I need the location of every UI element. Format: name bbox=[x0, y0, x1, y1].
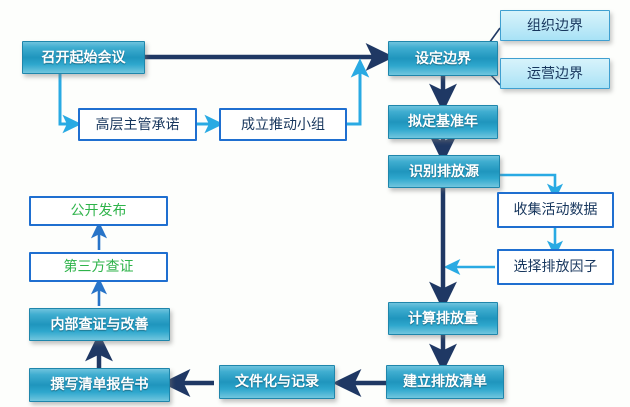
node-label: 选择排放因子 bbox=[514, 260, 598, 274]
node-third-party-verification[interactable]: 第三方查证 bbox=[29, 252, 168, 282]
node-set-boundary[interactable]: 设定边界 bbox=[388, 41, 498, 76]
node-label: 第三方查证 bbox=[64, 260, 134, 274]
node-public-disclosure[interactable]: 公开发布 bbox=[29, 196, 168, 226]
node-label: 收集活动数据 bbox=[514, 203, 598, 217]
node-label: 文件化与记录 bbox=[235, 375, 319, 389]
node-label: 建立排放清单 bbox=[403, 375, 487, 389]
node-set-base-year[interactable]: 拟定基准年 bbox=[388, 105, 498, 139]
node-label: 识别排放源 bbox=[409, 165, 479, 179]
node-build-emission-inventory[interactable]: 建立排放清单 bbox=[386, 365, 504, 399]
flowchart-canvas: 召开起始会议 高层主管承诺 成立推动小组 设定边界 组织边界 运营边界 拟定基准… bbox=[0, 0, 630, 407]
node-collect-activity-data[interactable]: 收集活动数据 bbox=[497, 192, 614, 228]
node-label: 撰写清单报告书 bbox=[51, 378, 149, 392]
node-internal-verification[interactable]: 内部查证与改善 bbox=[29, 308, 170, 341]
node-label: 公开发布 bbox=[71, 204, 127, 218]
node-label: 组织边界 bbox=[527, 19, 583, 33]
node-label: 运营边界 bbox=[527, 67, 583, 81]
node-label: 成立推动小组 bbox=[241, 118, 325, 132]
edge-kickoff-to-commitment bbox=[60, 74, 72, 124]
node-write-inventory-report[interactable]: 撰写清单报告书 bbox=[29, 368, 170, 402]
node-label: 高层主管承诺 bbox=[96, 118, 180, 132]
edge-sources-to-activitydata bbox=[500, 175, 555, 192]
node-label: 内部查证与改善 bbox=[51, 318, 149, 332]
node-calculate-emissions[interactable]: 计算排放量 bbox=[388, 302, 498, 335]
node-documentation-and-records[interactable]: 文件化与记录 bbox=[219, 365, 335, 399]
node-select-emission-factors[interactable]: 选择排放因子 bbox=[497, 249, 614, 285]
node-label: 拟定基准年 bbox=[408, 115, 478, 129]
node-top-management-commitment[interactable]: 高层主管承诺 bbox=[78, 108, 197, 141]
edge-taskforce-to-boundary bbox=[347, 68, 360, 124]
node-establish-task-force[interactable]: 成立推动小组 bbox=[219, 108, 347, 141]
node-label: 召开起始会议 bbox=[42, 51, 126, 65]
node-organizational-boundary[interactable]: 组织边界 bbox=[500, 10, 610, 41]
node-label: 计算排放量 bbox=[408, 312, 478, 326]
node-label: 设定边界 bbox=[415, 52, 471, 66]
node-operational-boundary[interactable]: 运营边界 bbox=[500, 58, 610, 89]
node-kickoff-meeting[interactable]: 召开起始会议 bbox=[22, 41, 145, 74]
node-identify-emission-sources[interactable]: 识别排放源 bbox=[388, 155, 500, 188]
